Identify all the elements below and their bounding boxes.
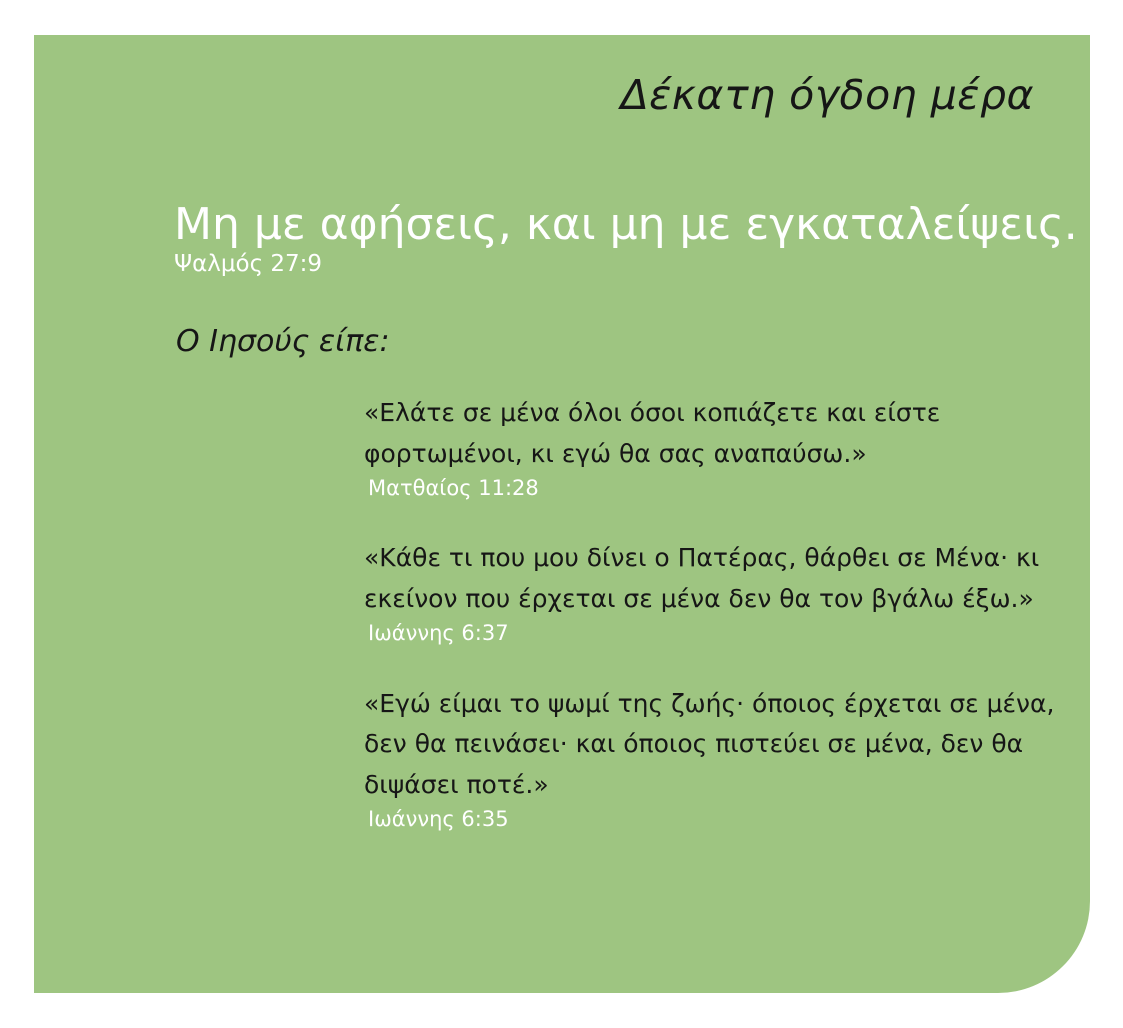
quote-reference: Ιωάννης 6:37 — [364, 620, 1094, 647]
quote-block: «Κάθε τι που μου δίνει ο Πατέρας, θάρθει… — [364, 538, 1094, 647]
quote-text: «Ελάτε σε μένα όλοι όσοι κοπιάζετε και ε… — [364, 393, 1094, 474]
quote-reference: Ιωάννης 6:35 — [364, 806, 1094, 833]
memory-verse-text: Μη με αφήσεις, και μη με εγκαταλείψεις. — [174, 200, 1074, 249]
devotional-card: Δέκατη όγδοη μέρα Μη με αφήσεις, και μη … — [34, 35, 1090, 993]
quote-block: «Εγώ είμαι το ψωμί της ζωής· όποιος έρχε… — [364, 684, 1094, 834]
page-canvas: Δέκατη όγδοη μέρα Μη με αφήσεις, και μη … — [0, 0, 1123, 1028]
quote-list: «Ελάτε σε μένα όλοι όσοι κοπιάζετε και ε… — [364, 393, 1094, 833]
quote-text: «Κάθε τι που μου δίνει ο Πατέρας, θάρθει… — [364, 538, 1094, 619]
day-title: Δέκατη όγδοη μέρα — [621, 73, 1034, 118]
quote-text: «Εγώ είμαι το ψωμί της ζωής· όποιος έρχε… — [364, 684, 1094, 806]
memory-verse-block: Μη με αφήσεις, και μη με εγκαταλείψεις. … — [174, 200, 1074, 279]
lead-in-text: Ο Ιησούς είπε: — [176, 324, 390, 360]
quote-block: «Ελάτε σε μένα όλοι όσοι κοπιάζετε και ε… — [364, 393, 1094, 502]
quote-reference: Ματθαίος 11:28 — [364, 475, 1094, 502]
memory-verse-reference: Ψαλμός 27:9 — [174, 251, 1074, 279]
